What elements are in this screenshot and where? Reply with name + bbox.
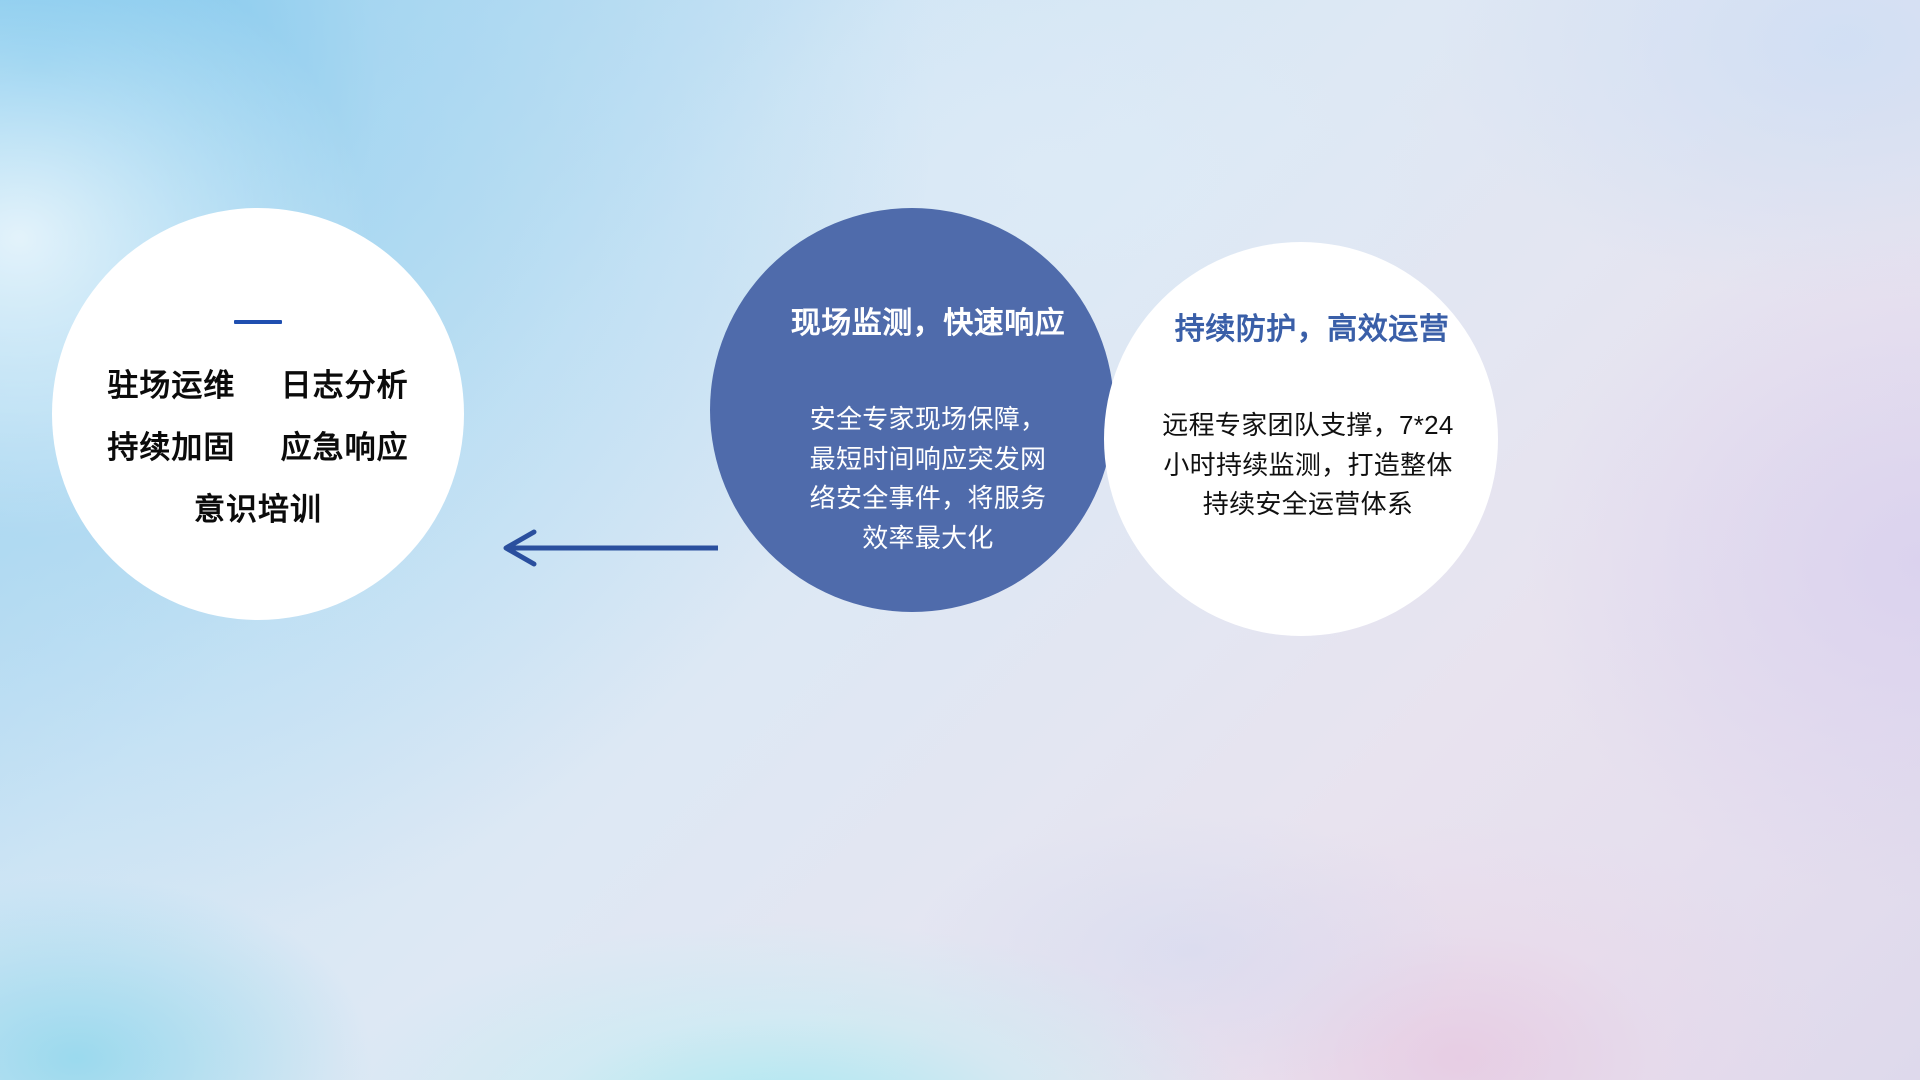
capability-item-yingji-xiangying: 应急响应 [281,430,409,465]
continuous-protection-circle[interactable]: 持续防护，高效运营 远程专家团队支撑，7*24 小时持续监测，打造整体 持续安全… [1104,242,1498,636]
onsite-monitoring-body-line-2: 最短时间响应突发网 [742,440,1114,480]
dash-accent-icon [234,320,282,324]
capability-circle-content: 驻场运维 日志分析 持续加固 应急响应 意识培训 [52,208,464,525]
capability-item-rizhi-fenxi: 日志分析 [281,368,409,403]
capability-circle[interactable]: 驻场运维 日志分析 持续加固 应急响应 意识培训 [52,208,464,620]
left-pointing-arrow [492,524,718,572]
continuous-protection-heading: 持续防护，高效运营 [1126,304,1498,348]
onsite-monitoring-circle[interactable]: 现场监测，快速响应 安全专家现场保障， 最短时间响应突发网 络安全事件，将服务 … [710,208,1114,612]
arrow-svg [492,524,718,572]
capability-item-chixu-jiagu: 持续加固 [107,430,235,465]
onsite-monitoring-content: 现场监测，快速响应 安全专家现场保障， 最短时间响应突发网 络安全事件，将服务 … [710,208,1114,558]
continuous-protection-body-line-3: 持续安全运营体系 [1118,485,1498,525]
slide-canvas: 驻场运维 日志分析 持续加固 应急响应 意识培训 现场监测，快速响应 [0,0,1920,1080]
capability-line-2: 持续加固 应急响应 [52,432,464,463]
continuous-protection-body-line-2: 小时持续监测，打造整体 [1118,446,1498,486]
onsite-monitoring-body-line-3: 络安全事件，将服务 [742,479,1114,519]
capability-line-3: 意识培训 [52,494,464,525]
continuous-protection-content: 持续防护，高效运营 远程专家团队支撑，7*24 小时持续监测，打造整体 持续安全… [1104,242,1498,525]
onsite-monitoring-body: 安全专家现场保障， 最短时间响应突发网 络安全事件，将服务 效率最大化 [742,400,1114,558]
onsite-monitoring-body-line-1: 安全专家现场保障， [742,400,1114,440]
capability-item-zhuchang-yunwei: 驻场运维 [107,368,235,403]
capability-item-yishi-peixun: 意识培训 [194,492,322,527]
capability-line-1: 驻场运维 日志分析 [52,370,464,401]
onsite-monitoring-heading: 现场监测，快速响应 [742,298,1114,342]
onsite-monitoring-body-line-4: 效率最大化 [742,519,1114,559]
continuous-protection-body: 远程专家团队支撑，7*24 小时持续监测，打造整体 持续安全运营体系 [1118,406,1498,525]
continuous-protection-body-line-1: 远程专家团队支撑，7*24 [1118,406,1498,446]
